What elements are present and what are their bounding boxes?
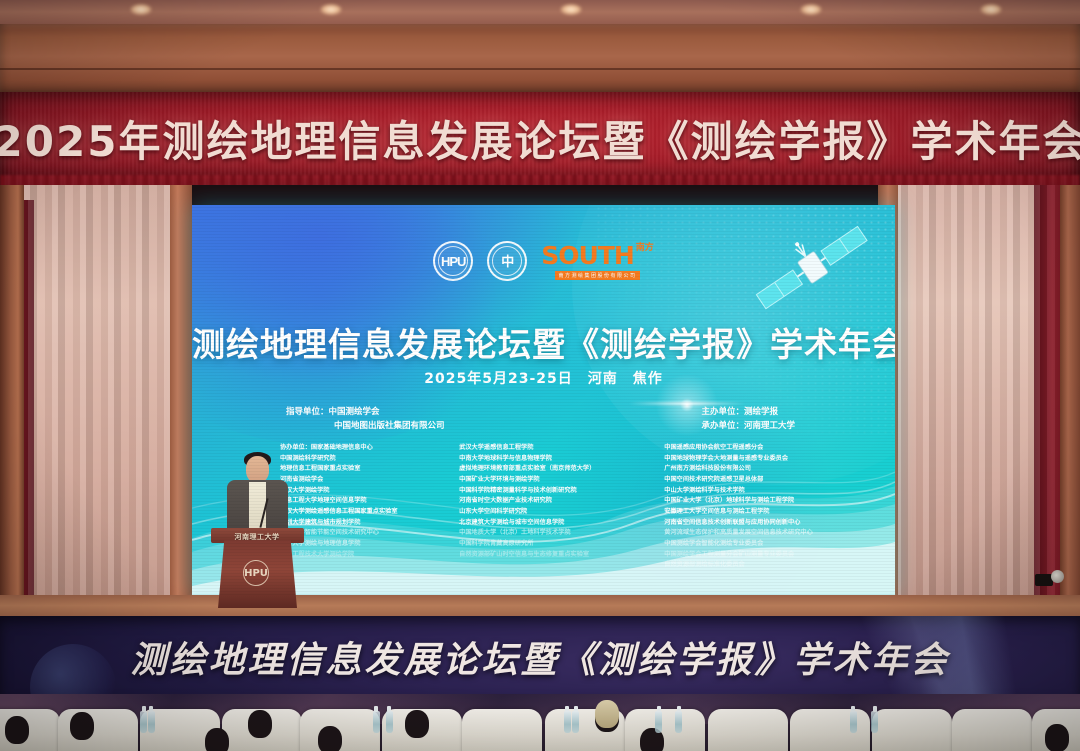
undertaker-line: 承办单位：河南理工大学	[701, 419, 795, 433]
co-organizer-item: 自然资源部测绘标准化委员会	[664, 560, 835, 571]
co-organizer-item: 中国科学院青藏高原研究所	[459, 539, 634, 550]
guidance-line-1: 指导单位：中国测绘学会	[286, 405, 445, 419]
water-bottle	[572, 711, 579, 733]
audience-chair	[790, 709, 870, 751]
co-organizer-item: 虚拟地理环境教育部重点实验室（南京师范大学）	[459, 464, 634, 475]
south-brand-top: SOUTH 南方	[541, 243, 654, 268]
audience-chair	[462, 709, 542, 751]
south-chinese-mark: 南方	[636, 243, 654, 252]
proscenium-beam	[0, 24, 1080, 96]
water-bottle	[655, 711, 662, 733]
led-main-title: 测绘地理信息发展论坛暨《测绘学报》学术年会	[192, 318, 895, 366]
ceiling-light	[980, 4, 1002, 15]
water-bottle	[871, 711, 878, 733]
audience-attendee-head	[205, 728, 229, 751]
audience-chair	[625, 709, 705, 751]
audience-chair	[952, 709, 1032, 751]
hpu-logo-icon: HPU	[433, 241, 473, 281]
co-organizer-item: 中国空间技术研究院遥感卫星总体部	[664, 475, 835, 486]
co-organizer-item: 黄河流域生态保护和高质量发展空间信息技术研究中心	[664, 528, 835, 539]
csgpc-logo-mark: 中	[501, 255, 513, 268]
csgpc-logo-icon: 中	[487, 241, 527, 281]
ceiling-light	[320, 4, 342, 15]
south-brand-logo: SOUTH 南方 南方测绘集团股份有限公司	[541, 243, 654, 280]
audience-attendee-head	[405, 710, 429, 738]
led-date-location: 2025年5月23-25日 河南 焦作	[192, 368, 895, 388]
audience-attendee-head	[595, 700, 619, 728]
water-bottle	[148, 711, 155, 733]
guidance-units-block: 指导单位：中国测绘学会 中国地图出版社集团有限公司	[264, 405, 445, 433]
podium-emblem-icon: HPU	[243, 560, 269, 586]
co-organizer-item: 中国测绘学会智能化测绘专业委员会	[664, 539, 835, 550]
co-organizer-item: 中山大学测绘科学与技术学院	[664, 486, 835, 497]
water-bottle	[564, 711, 571, 733]
south-wordmark: SOUTH	[541, 243, 634, 268]
host-units-block: 主办单位：测绘学报 承办单位：河南理工大学	[701, 405, 823, 433]
water-bottle	[386, 711, 393, 733]
curtain-pleat-texture	[24, 185, 174, 655]
co-organizer-column-3: 中国遥感应用协会航空工程遥感分会中国地球物理学会大地测量与遥感专业委员会广州南方…	[654, 443, 835, 571]
top-banner-title: 2025年测绘地理信息发展论坛暨《测绘学报》学术年会	[0, 108, 1080, 169]
co-organizer-item: 中国地质大学（北京）土地科学技术学院	[459, 528, 634, 539]
host-label: 主办单位：	[701, 407, 744, 417]
co-organizer-item: 广州南方测绘科技股份有限公司	[664, 464, 835, 475]
water-bottle	[850, 711, 857, 733]
screen-frame-left	[170, 185, 192, 655]
front-stage-banner: 测绘地理信息发展论坛暨《测绘学报》学术年会	[0, 616, 1080, 698]
audience-chair	[872, 709, 952, 751]
co-organizer-column-2: 武汉大学遥感信息工程学院中南大学地球科学与信息物理学院虚拟地理环境教育部重点实验…	[453, 443, 634, 571]
ceiling-light	[800, 4, 822, 15]
audience-attendee-head	[318, 726, 342, 751]
auditorium-scene: 2025年测绘地理信息发展论坛暨《测绘学报》学术年会	[0, 0, 1080, 751]
stage-camera	[1035, 568, 1065, 592]
guidance-line-2: 中国地图出版社集团有限公司	[286, 419, 445, 433]
co-organizer-item: 中国矿业大学（北京）地球科学与测绘工程学院	[664, 496, 835, 507]
camera-lens-icon	[1051, 570, 1064, 583]
co-organizer-item: 河南省空间信息技术创新联盟与应用协同创新中心	[664, 518, 835, 529]
co-organizer-item: 中国科学院精密测量科学与技术创新研究院	[459, 486, 634, 497]
host-unit: 测绘学报	[744, 407, 778, 417]
ceiling-light	[560, 4, 582, 15]
host-line: 主办单位：测绘学报	[701, 405, 795, 419]
co-organizer-item: 中国矿业大学环境与测绘学院	[459, 475, 634, 486]
water-bottle	[140, 711, 147, 733]
co-organizer-item: 安徽理工大学空间信息与测绘工程学院	[664, 507, 835, 518]
ceiling-light	[130, 4, 152, 15]
organizer-row: 指导单位：中国测绘学会 中国地图出版社集团有限公司 主办单位：测绘学报 承办单位…	[192, 405, 895, 433]
audience-attendee-head	[70, 712, 94, 740]
hpu-logo-mark: HPU	[441, 255, 465, 268]
co-organizer-item: 中国地球物理学会大地测量与遥感专业委员会	[664, 454, 835, 465]
water-bottle	[373, 711, 380, 733]
undertaker-label: 承办单位：	[701, 421, 744, 431]
speaker-head	[246, 456, 269, 483]
logo-row: HPU 中 SOUTH 南方 南方测绘集团股份有限公司	[192, 241, 895, 281]
audience-area	[0, 694, 1080, 751]
front-banner-title: 测绘地理信息发展论坛暨《测绘学报》学术年会	[0, 616, 1080, 698]
audience-attendee-head	[5, 716, 29, 744]
undertaker-unit: 河南理工大学	[744, 421, 795, 431]
co-organizer-item: 山东大学空间科学研究院	[459, 507, 634, 518]
co-organizer-item: 河南省时空大数据产业技术研究院	[459, 496, 634, 507]
co-organizer-item: 武汉大学遥感信息工程学院	[459, 443, 634, 454]
co-organizer-item: 中南大学地球科学与信息物理学院	[459, 454, 634, 465]
curtain-left-pale	[24, 185, 174, 655]
audience-chair	[708, 709, 788, 751]
podium-and-speaker: 河南理工大学 HPU	[205, 440, 310, 610]
wood-pillar-left	[0, 185, 24, 655]
co-organizer-item: 中国遥感应用协会航空工程遥感分会	[664, 443, 835, 454]
south-tagline: 南方测绘集团股份有限公司	[555, 271, 639, 280]
audience-attendee-head	[248, 710, 272, 738]
curtain-right-pale	[895, 185, 1040, 655]
guidance-label: 指导单位：	[286, 407, 329, 417]
guidance-unit-1: 中国测绘学会	[329, 407, 380, 417]
co-organizer-item: 北京建筑大学测绘与城市空间信息学院	[459, 518, 634, 529]
curtain-pleat-texture	[895, 185, 1040, 655]
water-bottle	[675, 711, 682, 733]
co-organizer-item: 自然资源部矿山时空信息与生态修复重点实验室	[459, 550, 634, 561]
top-red-banner: 2025年测绘地理信息发展论坛暨《测绘学报》学术年会	[0, 92, 1080, 185]
audience-attendee-head	[1045, 724, 1069, 751]
co-organizer-item: 中国测绘学会工程测量分会矿山测量专业委员会	[664, 550, 835, 561]
